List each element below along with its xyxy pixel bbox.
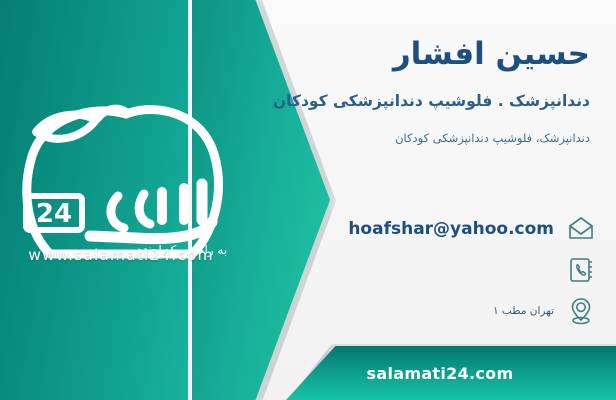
subtitle-secondary: دندانپزشک، فلوشیپ دندانپزشکی کودکان — [395, 131, 590, 145]
business-card: 24 به راحتی یک لبخند www.salamati24.com … — [0, 0, 616, 400]
logo-website: www.salamati24.com — [16, 246, 226, 264]
footer-bar: salamati24.com — [286, 346, 616, 400]
person-name: حسین افشار — [393, 36, 590, 72]
location-pin-icon — [564, 294, 598, 328]
subtitle-primary: دندانپزشک . فلوشیپ دندانپزشکی کودکان — [273, 92, 590, 110]
footer-website: salamati24.com — [367, 364, 536, 383]
svg-text:24: 24 — [36, 199, 72, 229]
contact-row-email[interactable]: hoafshar@yahoo.com — [348, 208, 598, 249]
envelope-icon — [564, 212, 598, 246]
contact-row-phone[interactable] — [348, 249, 598, 290]
location-value: تهران مطب ۱ — [493, 305, 554, 317]
phone-book-icon — [564, 253, 598, 287]
email-value: hoafshar@yahoo.com — [348, 219, 554, 239]
contact-list: hoafshar@yahoo.com تهران مطب ۱ — [348, 208, 598, 331]
contact-row-location[interactable]: تهران مطب ۱ — [348, 290, 598, 331]
